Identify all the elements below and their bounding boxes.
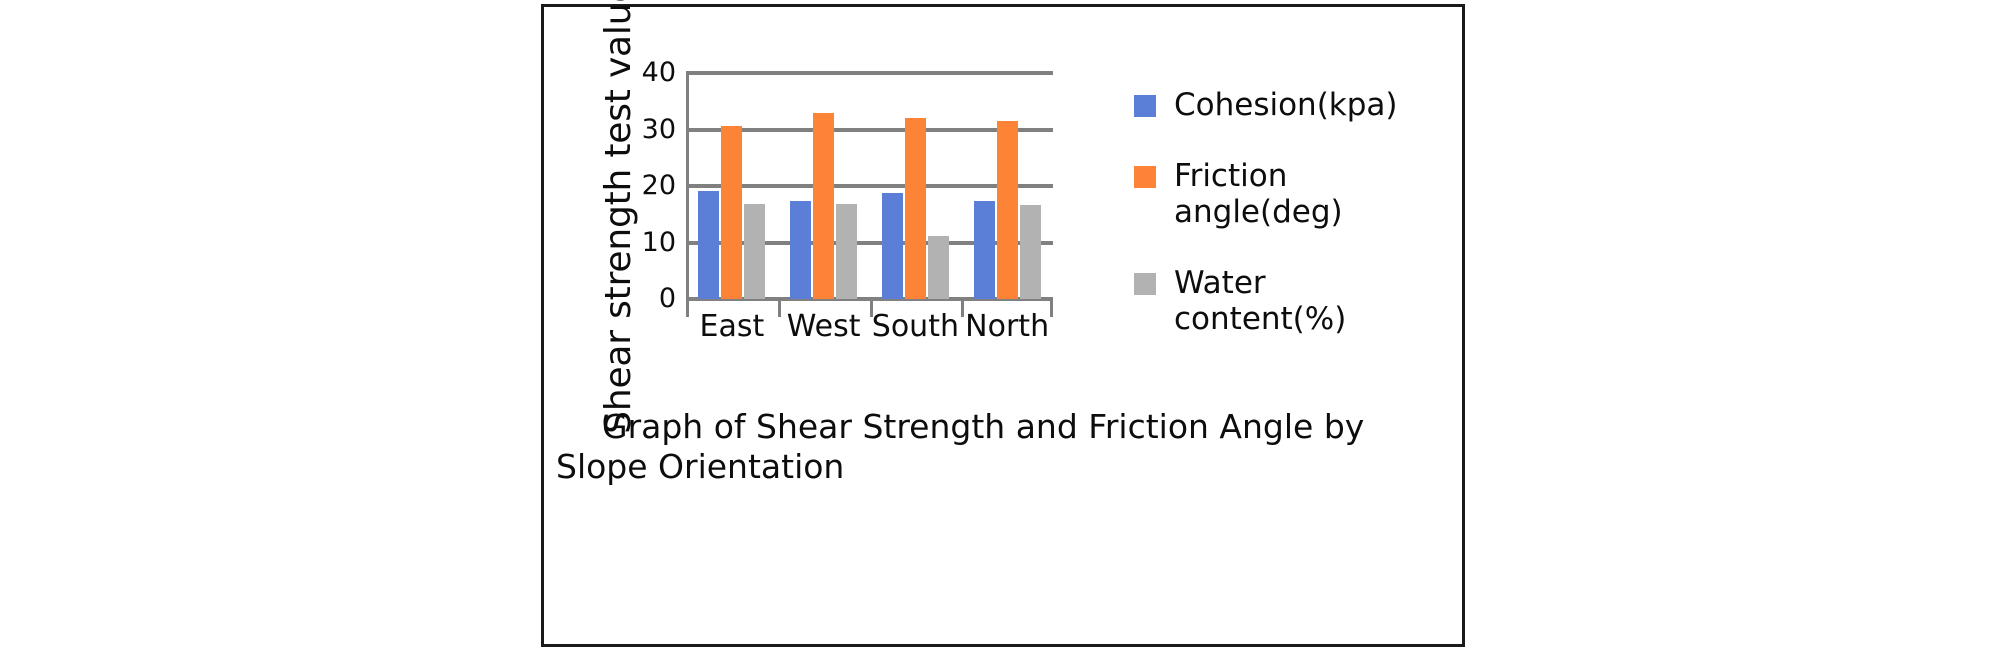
bar-group-south: [870, 73, 962, 299]
category-label-south: South: [870, 312, 962, 342]
category-label-west: West: [778, 312, 870, 342]
y-tick-label-0: 0: [618, 285, 676, 312]
chart-frame: Shear strength test values 010203040 Eas…: [541, 4, 1465, 647]
bar-west-series-0: [790, 201, 811, 299]
bar-south-series-0: [882, 193, 903, 299]
y-axis-tick-labels: 010203040: [618, 59, 676, 299]
legend-swatch-icon-1: [1134, 166, 1156, 188]
bar-south-series-2: [928, 236, 949, 299]
bar-east-series-1: [721, 126, 742, 299]
bar-north-series-1: [997, 121, 1018, 299]
legend-item-0[interactable]: Cohesion(kpa): [1134, 87, 1454, 124]
bar-south-series-1: [905, 118, 926, 299]
legend-label-1: Friction angle(deg): [1174, 158, 1404, 231]
bar-west-series-1: [813, 113, 834, 299]
category-label-north: North: [961, 312, 1053, 342]
bar-north-series-0: [974, 201, 995, 299]
bar-north-series-2: [1020, 205, 1041, 299]
legend-label-2: Water content(%): [1174, 265, 1404, 338]
bar-east-series-2: [744, 204, 765, 299]
bar-west-series-2: [836, 204, 857, 299]
y-tick-label-10: 10: [618, 229, 676, 256]
legend-item-2[interactable]: Water content(%): [1134, 265, 1454, 338]
category-label-east: East: [686, 312, 778, 342]
figure-canvas: Shear strength test values 010203040 Eas…: [0, 0, 2008, 654]
bar-group-east: [686, 73, 778, 299]
chart-legend: Cohesion(kpa)Friction angle(deg)Water co…: [1134, 87, 1454, 372]
x-axis-category-labels: EastWestSouthNorth: [686, 312, 1053, 352]
chart-caption: Graph of Shear Strength and Friction Ang…: [556, 407, 1456, 488]
bar-east-series-0: [698, 191, 719, 299]
plot-area: [686, 59, 1053, 299]
y-tick-label-20: 20: [618, 172, 676, 199]
legend-label-0: Cohesion(kpa): [1174, 87, 1398, 124]
legend-item-1[interactable]: Friction angle(deg): [1134, 158, 1454, 231]
bars-layer: [686, 73, 1053, 299]
legend-swatch-icon-0: [1134, 95, 1156, 117]
bar-group-west: [778, 73, 870, 299]
legend-swatch-icon-2: [1134, 273, 1156, 295]
bar-group-north: [961, 73, 1053, 299]
y-tick-label-40: 40: [618, 59, 676, 86]
y-tick-label-30: 30: [618, 116, 676, 143]
